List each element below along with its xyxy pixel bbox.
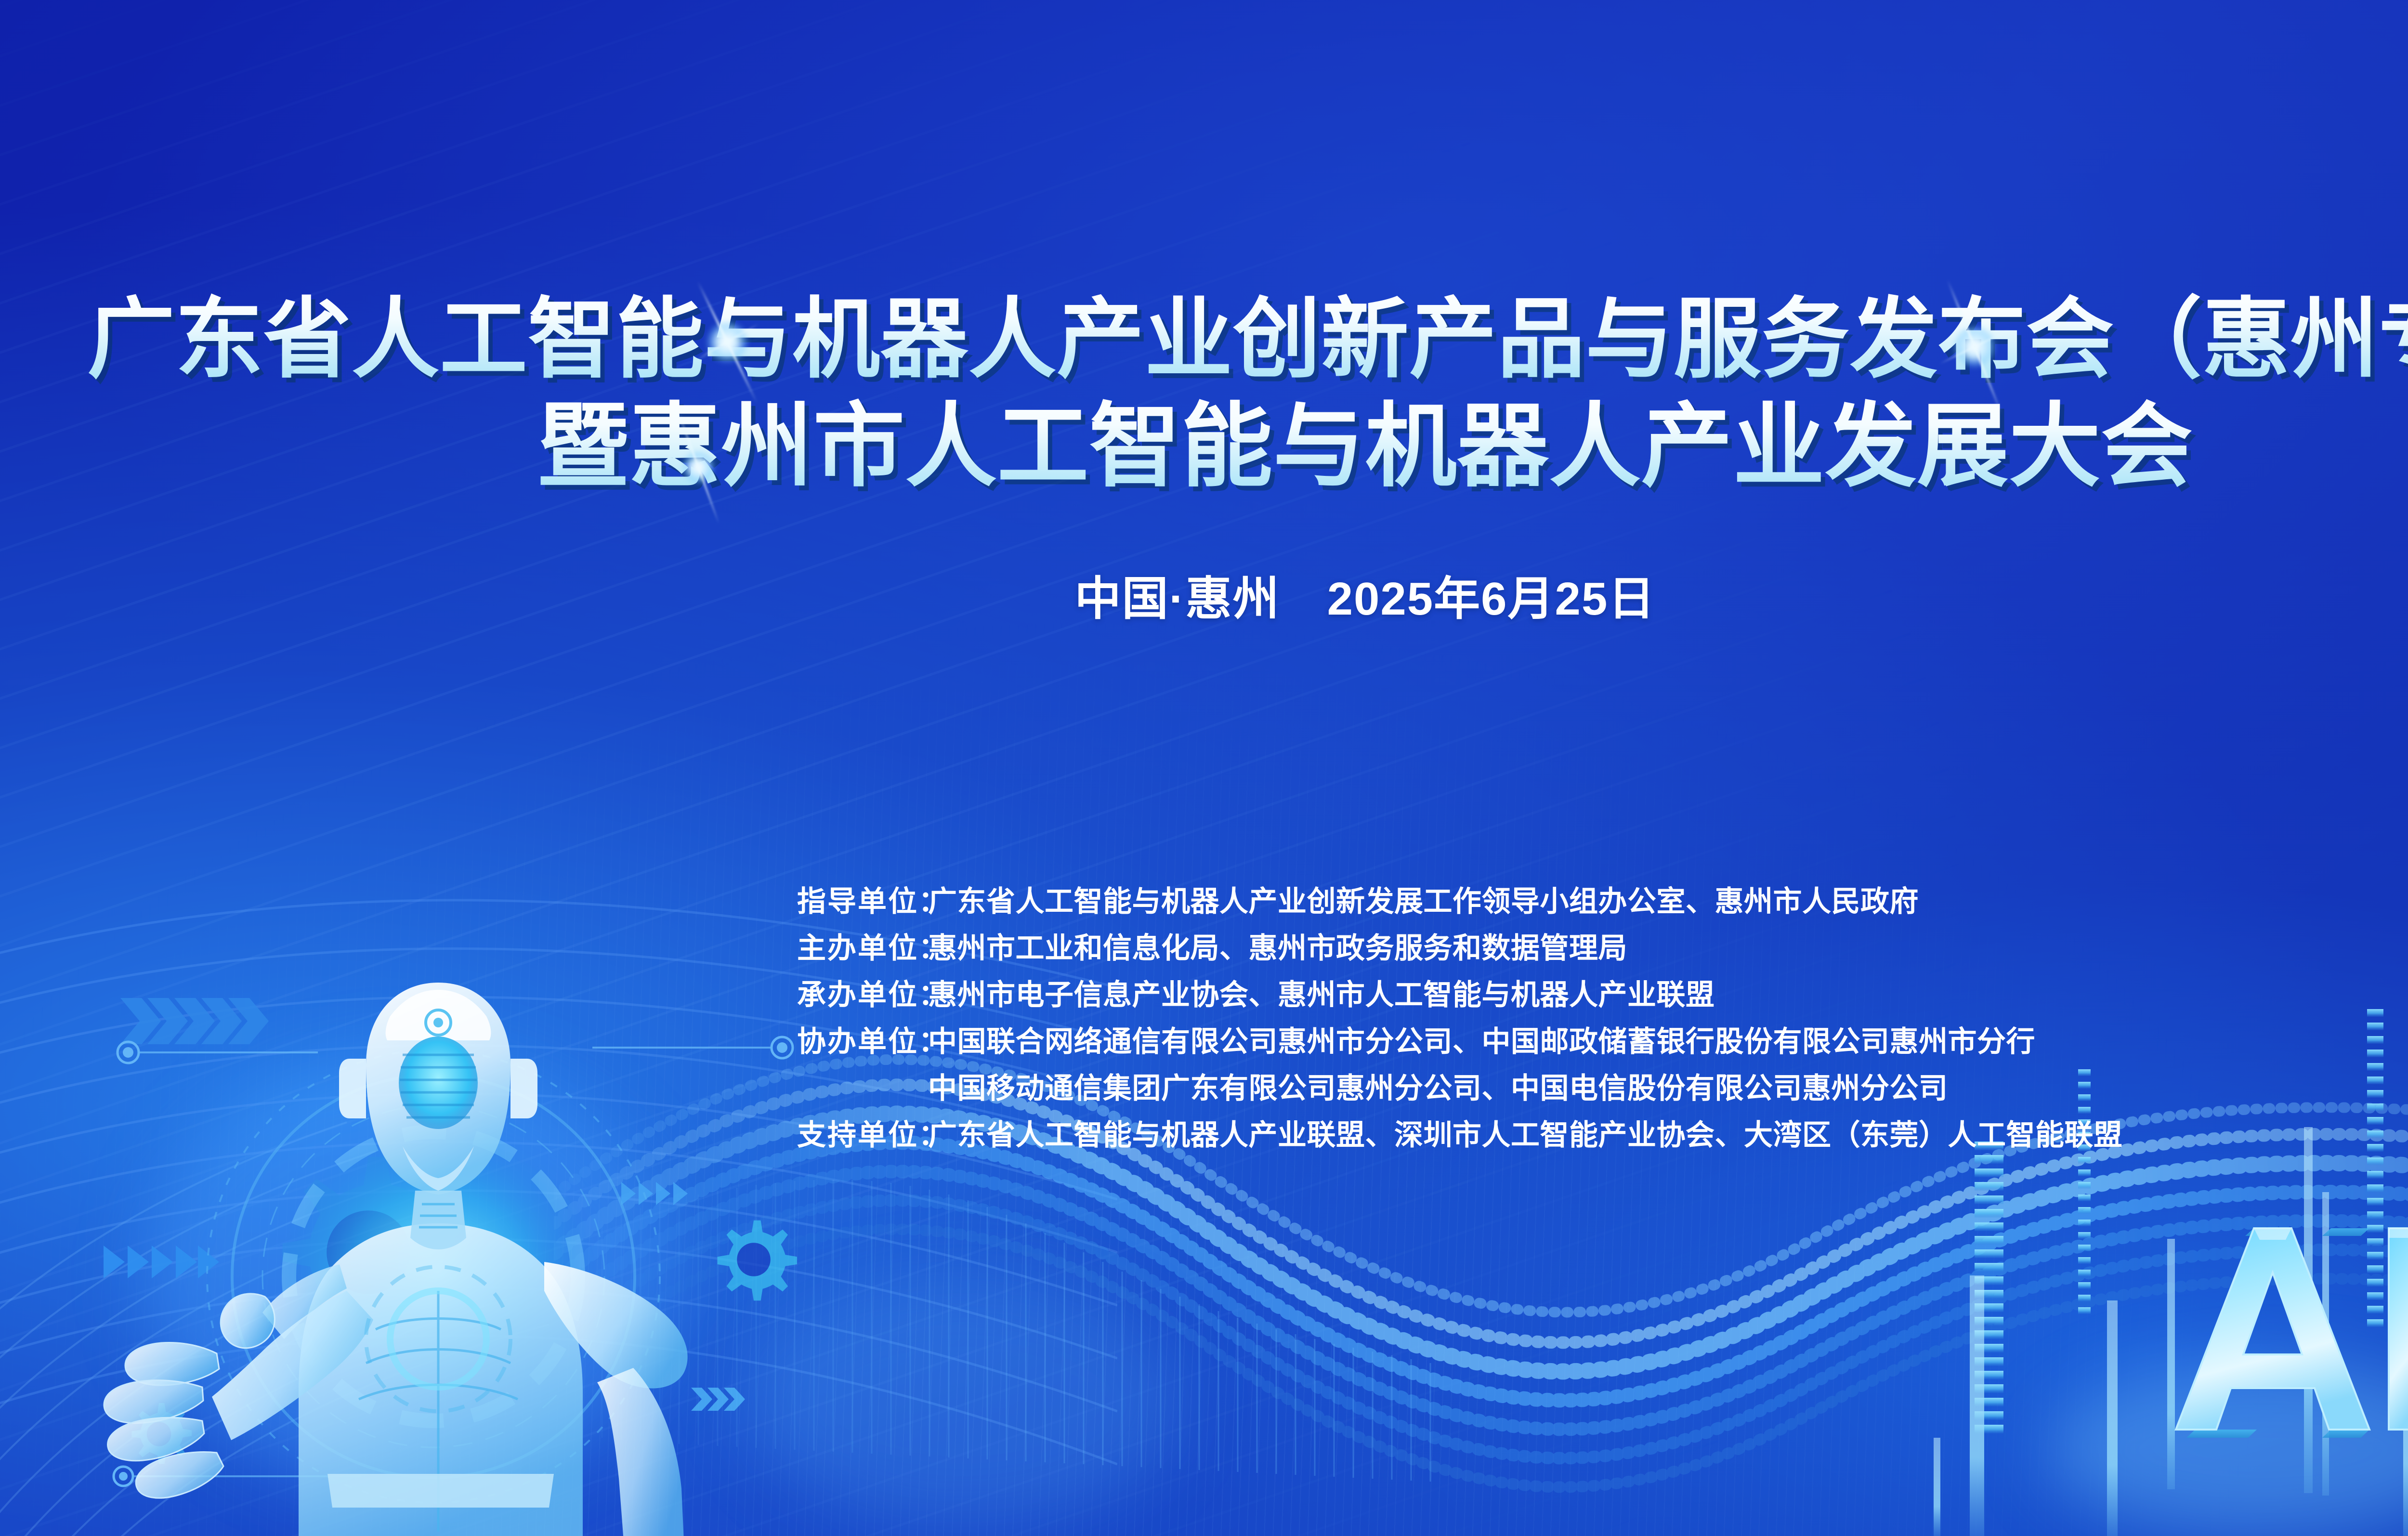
ai-logo bbox=[2138, 1219, 2408, 1459]
organizer-label: 主办单位： bbox=[797, 934, 928, 963]
organizer-value: 中国移动通信集团广东有限公司惠州分公司、中国电信股份有限公司惠州分公司 bbox=[928, 1074, 1948, 1103]
organizer-label: 指导单位： bbox=[797, 887, 928, 916]
organizer-label: 支持单位： bbox=[797, 1121, 928, 1150]
organizer-row: 协办单位： 中国联合网络通信有限公司惠州市分公司、中国邮政储蓄银行股份有限公司惠… bbox=[797, 1027, 2123, 1056]
event-poster: 广东省人工智能与机器人产业创新产品与服务发布会（惠州专场） 暨惠州市人工智能与机… bbox=[0, 0, 2408, 1536]
organizer-value: 广东省人工智能与机器人产业创新发展工作领导小组办公室、惠州市人民政府 bbox=[928, 887, 1919, 916]
organizer-row: 支持单位： 广东省人工智能与机器人产业联盟、深圳市人工智能产业协会、大湾区（东莞… bbox=[797, 1121, 2123, 1150]
organizer-row: 指导单位： 广东省人工智能与机器人产业创新发展工作领导小组办公室、惠州市人民政府 bbox=[797, 887, 2123, 916]
organizer-value: 惠州市工业和信息化局、惠州市政务服务和数据管理局 bbox=[928, 934, 1627, 963]
organizer-row: 承办单位： 惠州市电子信息产业协会、惠州市人工智能与机器人产业联盟 bbox=[797, 981, 2123, 1010]
organizer-list: 指导单位： 广东省人工智能与机器人产业创新发展工作领导小组办公室、惠州市人民政府… bbox=[797, 887, 2123, 1168]
headline-line-1: 广东省人工智能与机器人产业创新产品与服务发布会（惠州专场） bbox=[0, 287, 2408, 392]
page-title: 广东省人工智能与机器人产业创新产品与服务发布会（惠州专场） 暨惠州市人工智能与机… bbox=[0, 287, 2408, 501]
humanoid-robot-figure bbox=[58, 906, 756, 1536]
organizer-label: 协办单位： bbox=[797, 1027, 928, 1056]
organizer-row: 主办单位： 惠州市工业和信息化局、惠州市政务服务和数据管理局 bbox=[797, 934, 2123, 963]
organizer-label: 承办单位： bbox=[797, 981, 928, 1010]
organizer-row-continuation: 协办单位： 中国移动通信集团广东有限公司惠州分公司、中国电信股份有限公司惠州分公… bbox=[797, 1074, 2123, 1103]
event-subtitle: 中国·惠州 2025年6月25日 bbox=[0, 561, 2408, 628]
organizer-value: 惠州市电子信息产业协会、惠州市人工智能与机器人产业联盟 bbox=[928, 981, 1715, 1010]
headline-line-2: 暨惠州市人工智能与机器人产业发展大会 bbox=[0, 392, 2408, 501]
organizer-value: 广东省人工智能与机器人产业联盟、深圳市人工智能产业协会、大湾区（东莞）人工智能联… bbox=[928, 1121, 2123, 1150]
organizer-value: 中国联合网络通信有限公司惠州市分公司、中国邮政储蓄银行股份有限公司惠州市分行 bbox=[928, 1027, 2035, 1056]
